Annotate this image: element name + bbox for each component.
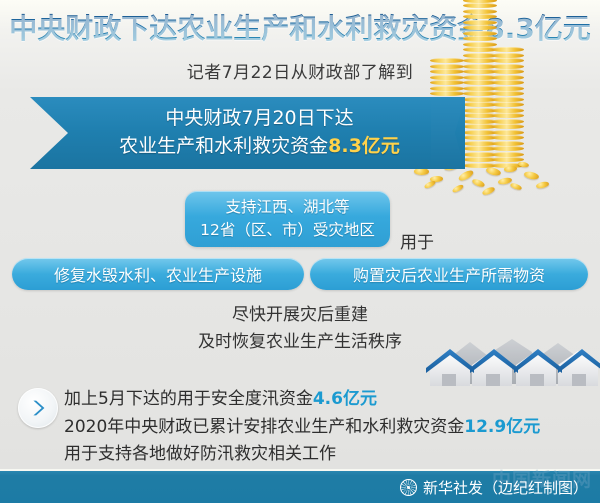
summary-amount-1: 4.6亿元 (313, 389, 377, 409)
usage-pill-purchase: 购置灾后农业生产所需物资 (310, 258, 588, 290)
credit-text: 新华社发（边纪红制图） (423, 477, 588, 498)
coin (492, 119, 524, 124)
footer-bar: 中国新闻网 新华社发（边纪红制图） (0, 469, 600, 503)
coin (463, 14, 497, 19)
coin (430, 64, 464, 69)
coin (504, 165, 517, 172)
coin (492, 47, 524, 52)
chevron-right-icon (18, 388, 58, 428)
coin (492, 53, 524, 58)
goal-note-line-1: 尽快开展灾后重建 (0, 302, 600, 329)
coin (492, 130, 524, 135)
banner-amount: 8.3亿元 (328, 135, 400, 157)
coin (430, 75, 464, 80)
coin (492, 86, 524, 91)
coin-stack-column (492, 47, 524, 168)
banner-line-1: 中央财政7月20日下达 (165, 105, 353, 133)
coin (492, 97, 524, 102)
coin (463, 42, 497, 47)
coin (471, 178, 485, 188)
coin (492, 102, 524, 107)
provinces-box: 支持江西、湖北等 12省（区、市）受灾地区 (185, 191, 390, 247)
coin (423, 180, 436, 190)
coin (481, 186, 495, 196)
coin (463, 9, 497, 14)
coin (492, 113, 524, 118)
summary-line-1: 加上5月下达的用于安全度汛资金4.6亿元 (64, 386, 600, 414)
summary-amount-2: 12.9亿元 (464, 417, 540, 437)
coin (492, 124, 524, 129)
coin (492, 108, 524, 113)
coin (492, 146, 524, 151)
xinhua-logo-icon (400, 479, 417, 496)
summary-line-2: 2020年中央财政已累计安排农业生产和水利救灾资金12.9亿元 (64, 414, 600, 442)
coin (463, 31, 497, 36)
connector-label: 用于 (400, 228, 434, 253)
provinces-line-1: 支持江西、湖北等 (225, 196, 349, 219)
coin (463, 25, 497, 30)
coin (492, 91, 524, 96)
chevron-right-glyph (27, 397, 49, 419)
coin (451, 183, 464, 194)
summary-text: 加上5月下达的用于安全度汛资金4.6亿元 2020年中央财政已累计安排农业生产和… (64, 386, 600, 469)
coin (492, 69, 524, 74)
banner-text: 中央财政7月20日下达 农业生产和水利救灾资金8.3亿元 (72, 97, 447, 169)
coin (492, 141, 524, 146)
coin (492, 75, 524, 80)
coin (463, 20, 497, 25)
summary-line-2-prefix: 2020年中央财政已累计安排农业生产和水利救灾资金 (64, 417, 464, 437)
coin (523, 170, 539, 180)
summary-line-1-prefix: 加上5月下达的用于安全度汛资金 (64, 389, 313, 409)
coin (430, 58, 464, 63)
coin (430, 80, 464, 85)
house-row-icon (420, 338, 600, 390)
credit-line: 新华社发（边纪红制图） (400, 477, 588, 498)
coin (492, 80, 524, 85)
coin (509, 182, 522, 191)
coin (492, 135, 524, 140)
coin (492, 58, 524, 63)
coin (536, 181, 550, 190)
coin (430, 69, 464, 74)
main-banner: 中央财政7月20日下达 农业生产和水利救灾资金8.3亿元 (30, 97, 465, 169)
usage-pill-repair: 修复水毁水利、农业生产设施 (12, 258, 304, 290)
coin (463, 36, 497, 41)
coin (430, 86, 464, 91)
page-header: 中央财政下达农业生产和水利救灾资金8.3亿元 (0, 6, 600, 48)
coin (492, 152, 524, 157)
coin (430, 91, 464, 96)
coin (463, 3, 497, 8)
banner-line-2-prefix: 农业生产和水利救灾资金 (119, 135, 328, 157)
page-title: 中央财政下达农业生产和水利救灾资金8.3亿元 (9, 7, 591, 47)
house-row-svg (420, 338, 600, 390)
provinces-line-2: 12省（区、市）受灾地区 (200, 219, 375, 242)
coin (492, 64, 524, 69)
banner-line-2: 农业生产和水利救灾资金8.3亿元 (119, 133, 400, 161)
